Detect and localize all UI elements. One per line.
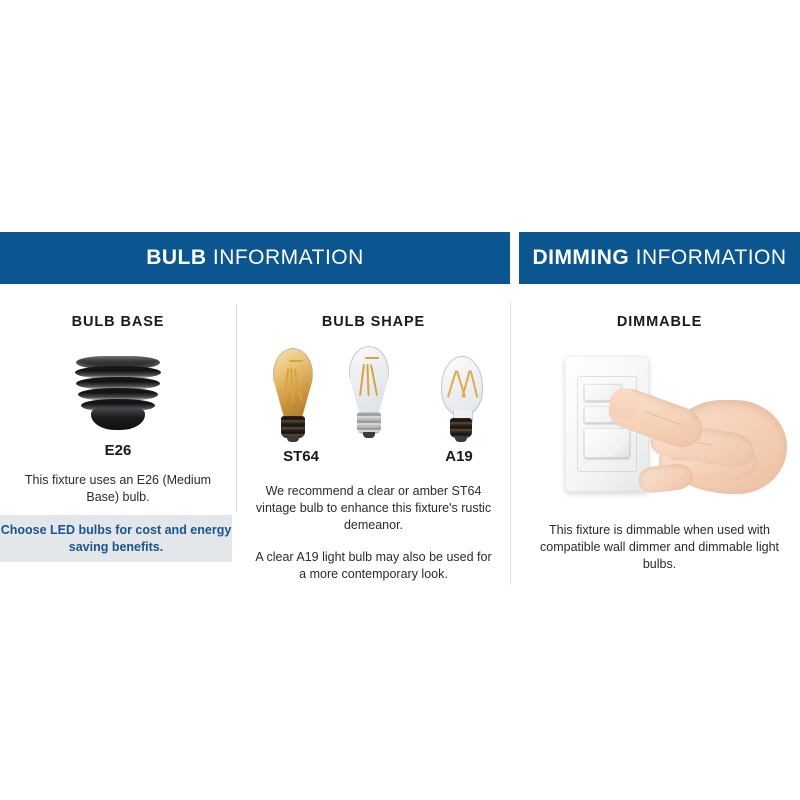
bulb-shape-paragraph-2: A clear A19 light bulb may also be used … bbox=[255, 549, 493, 583]
e26-screw-base-icon bbox=[70, 356, 166, 430]
led-callout-text: Choose LED bulbs for cost and energy sav… bbox=[0, 522, 232, 556]
bulb-header-light: INFORMATION bbox=[213, 246, 364, 269]
bulb-shape-column: BULB SHAPE bbox=[237, 284, 510, 583]
bulb-information-header: BULB INFORMATION bbox=[0, 232, 510, 284]
hand-illustration bbox=[611, 382, 786, 500]
bulb-base-column: BULB BASE E26 This fixture uses an E26 (… bbox=[0, 284, 236, 506]
bulb-shape-paragraph-1: We recommend a clear or amber ST64 vinta… bbox=[253, 483, 495, 534]
a19-label: A19 bbox=[429, 448, 489, 465]
dimmable-description: This fixture is dimmable when used with … bbox=[540, 522, 780, 573]
bulb-base-description: This fixture uses an E26 (Medium Base) b… bbox=[23, 472, 213, 506]
bulb-shape-title: BULB SHAPE bbox=[237, 284, 510, 330]
dimming-header-bold: DIMMING bbox=[532, 246, 629, 269]
e26-label: E26 bbox=[0, 442, 236, 459]
st64-clear-bulb-icon bbox=[341, 346, 397, 440]
bulb-information-infographic: BULB INFORMATION DIMMING INFORMATION BUL… bbox=[0, 0, 800, 800]
bulb-information-header-text: BULB INFORMATION bbox=[146, 246, 364, 270]
dimming-information-header: DIMMING INFORMATION bbox=[519, 232, 800, 284]
bulb-header-bold: BULB bbox=[146, 246, 206, 269]
dimmable-column: DIMMABLE bbox=[519, 284, 800, 573]
dimmable-title: DIMMABLE bbox=[519, 284, 800, 330]
panel-divider bbox=[510, 300, 511, 585]
st64-amber-bulb-icon bbox=[265, 348, 321, 442]
wall-dimmer-switch-with-hand-icon bbox=[519, 338, 800, 508]
st64-label: ST64 bbox=[271, 448, 331, 465]
bulb-shape-labels: ST64 A19 bbox=[237, 448, 510, 470]
dimming-information-panel: DIMMABLE bbox=[519, 284, 800, 584]
bulb-shape-icons bbox=[237, 346, 510, 446]
dimming-information-header-text: DIMMING INFORMATION bbox=[532, 246, 786, 270]
a19-clear-bulb-icon bbox=[433, 352, 489, 446]
bulb-base-title: BULB BASE bbox=[0, 284, 236, 330]
led-callout-box: Choose LED bulbs for cost and energy sav… bbox=[0, 515, 232, 562]
dimming-header-light: INFORMATION bbox=[636, 246, 787, 269]
